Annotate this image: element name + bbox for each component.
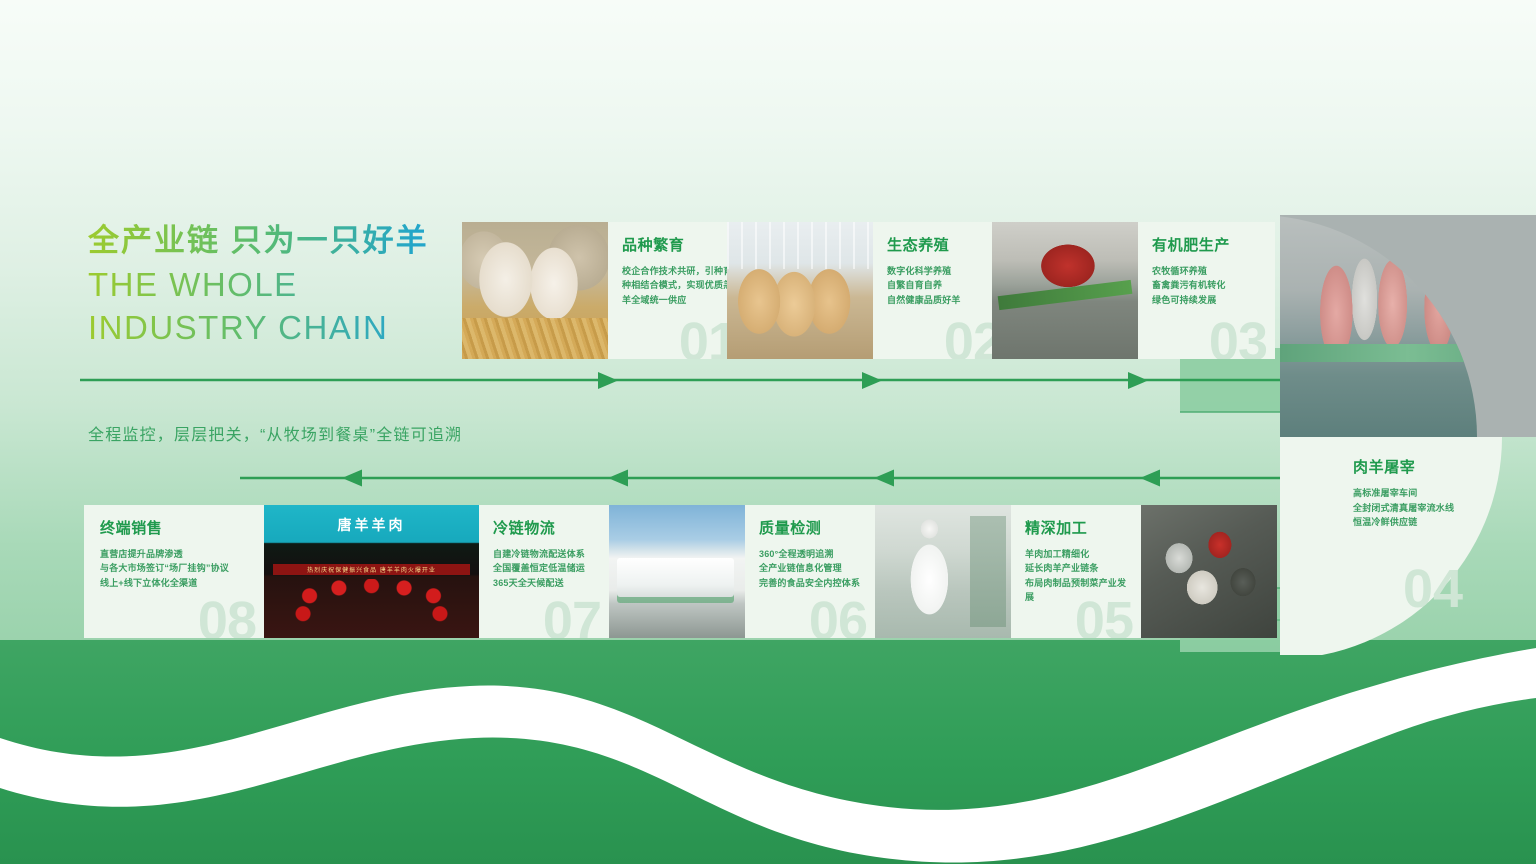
stage-card-08-desc-line-3: 线上+线下立体化全渠道 [100,576,252,591]
stage-card-02-desc-line-1: 数字化科学养殖 [887,264,998,279]
stage-card-01[interactable]: 品种繁育 校企合作技术共研，引种育 种相结合模式，实现优质羔 羊全域统一供应 0… [462,222,745,359]
stage-card-07-desc-line-1: 自建冷链物流配送体系 [493,547,597,562]
stage-node-04-desc-line-3: 恒温冷鲜供应链 [1353,515,1536,530]
stage-card-07-title: 冷链物流 [493,521,597,538]
stage-card-03-desc-line-3: 绿色可持续发展 [1152,293,1263,308]
photo-lambs-in-barn [462,222,608,359]
headline-chinese: 全产业链 只为一只好羊 [88,222,508,261]
stage-card-07-number: 07 [543,594,601,638]
storefront-sign-text: 唐羊羊肉 [286,513,458,537]
stage-card-03-desc-line-2: 畜禽粪污有机转化 [1152,278,1263,293]
stage-card-06[interactable]: 质量检测 360°全程透明追溯 全产业链信息化管理 完善的食品安全内控体系 06 [745,505,1011,638]
stage-card-03-desc-line-1: 农牧循环养殖 [1152,264,1263,279]
photo-fertilizer-machinery [992,222,1138,359]
stage-card-03-title: 有机肥生产 [1152,238,1263,255]
stage-node-04-desc-line-2: 全封闭式清真屠宰流水线 [1353,501,1536,516]
stage-node-04-number: 04 [1403,562,1463,616]
stage-card-07[interactable]: 冷链物流 自建冷链物流配送体系 全国覆盖恒定低温储运 365天全天候配送 07 [479,505,745,638]
stage-card-01-desc-line-1: 校企合作技术共研，引种育 [622,264,733,279]
stage-card-01-desc-line-2: 种相结合模式，实现优质羔 [622,278,733,293]
photo-processed-meat [1141,505,1277,638]
decorative-wave-ribbon [0,620,1536,864]
stage-card-05-number: 05 [1075,594,1133,638]
stage-card-05-title: 精深加工 [1025,521,1129,538]
stage-card-08[interactable]: 终端销售 直营店提升品牌渗透 与各大市场签订“场厂挂钩”协议 线上+线下立体化全… [84,505,479,638]
stage-card-08-panel: 终端销售 直营店提升品牌渗透 与各大市场签订“场厂挂钩”协议 线上+线下立体化全… [84,505,264,638]
stage-card-02[interactable]: 生态养殖 数字化科学养殖 自繁自育自养 自然健康品质好羊 02 [727,222,1010,359]
stage-node-04-title: 肉羊屠宰 [1353,456,1536,477]
stage-card-06-desc-line-3: 完善的食品安全内控体系 [759,576,863,591]
stage-card-02-title: 生态养殖 [887,238,998,255]
stage-card-06-title: 质量检测 [759,521,863,538]
infographic-canvas: 全产业链 只为一只好羊 THE WHOLE INDUSTRY CHAIN 全程监… [0,0,1536,864]
stage-card-02-desc-line-2: 自繁自育自养 [887,278,998,293]
photo-slaughter-line [1280,215,1536,437]
stage-card-02-desc-line-3: 自然健康品质好羊 [887,293,998,308]
stage-node-04-desc-line-1: 高标准屠宰车间 [1353,486,1536,501]
stage-card-06-desc-line-2: 全产业链信息化管理 [759,561,863,576]
stage-card-08-desc-line-2: 与各大市场签订“场厂挂钩”协议 [100,561,252,576]
headline-english-line2: INDUSTRY CHAIN [88,308,508,348]
stage-card-08-number: 08 [198,594,256,638]
stage-card-02-panel: 生态养殖 数字化科学养殖 自繁自育自养 自然健康品质好羊 02 [873,222,1010,359]
stage-card-07-desc-line-2: 全国覆盖恒定低温储运 [493,561,597,576]
stage-card-06-panel: 质量检测 360°全程透明追溯 全产业链信息化管理 完善的食品安全内控体系 06 [745,505,875,638]
stage-card-06-desc-line-1: 360°全程透明追溯 [759,547,863,562]
stage-card-05-desc-line-2: 延长肉羊产业链条 [1025,561,1129,576]
stage-card-07-panel: 冷链物流 自建冷链物流配送体系 全国覆盖恒定低温储运 365天全天候配送 07 [479,505,609,638]
stage-card-01-desc-line-3: 羊全域统一供应 [622,293,733,308]
photo-retail-storefront: 唐羊羊肉 热烈庆祝保健振兴食品 唐羊羊肉火爆开业 [264,505,479,638]
stage-card-03[interactable]: 有机肥生产 农牧循环养殖 畜禽粪污有机转化 绿色可持续发展 03 [992,222,1275,359]
headline-english-line1: THE WHOLE [88,265,508,305]
photo-sheep-pen [727,222,873,359]
stage-card-05-panel: 精深加工 羊肉加工精细化 延长肉羊产业链条 布局肉制品预制菜产业发展 05 [1011,505,1141,638]
stage-card-06-number: 06 [809,594,867,638]
stage-card-05[interactable]: 精深加工 羊肉加工精细化 延长肉羊产业链条 布局肉制品预制菜产业发展 05 [1011,505,1277,638]
stage-card-05-desc-line-1: 羊肉加工精细化 [1025,547,1129,562]
headline-block: 全产业链 只为一只好羊 THE WHOLE INDUSTRY CHAIN [88,222,508,348]
photo-cold-chain-truck [609,505,745,638]
stage-card-08-desc-line-1: 直营店提升品牌渗透 [100,547,252,562]
stage-card-01-panel: 品种繁育 校企合作技术共研，引种育 种相结合模式，实现优质羔 羊全域统一供应 0… [608,222,745,359]
stage-node-04[interactable]: 肉羊屠宰 高标准屠宰车间 全封闭式清真屠宰流水线 恒温冷鲜供应链 04 [1343,450,1536,655]
photo-lab-inspection [875,505,1011,638]
stage-card-07-desc-line-3: 365天全天候配送 [493,576,597,591]
storefront-banner-text: 热烈庆祝保健振兴食品 唐羊羊肉火爆开业 [273,564,471,576]
stage-card-01-title: 品种繁育 [622,238,733,255]
tagline-text: 全程监控，层层把关，“从牧场到餐桌”全链可追溯 [88,421,462,445]
stage-card-08-title: 终端销售 [100,521,252,538]
